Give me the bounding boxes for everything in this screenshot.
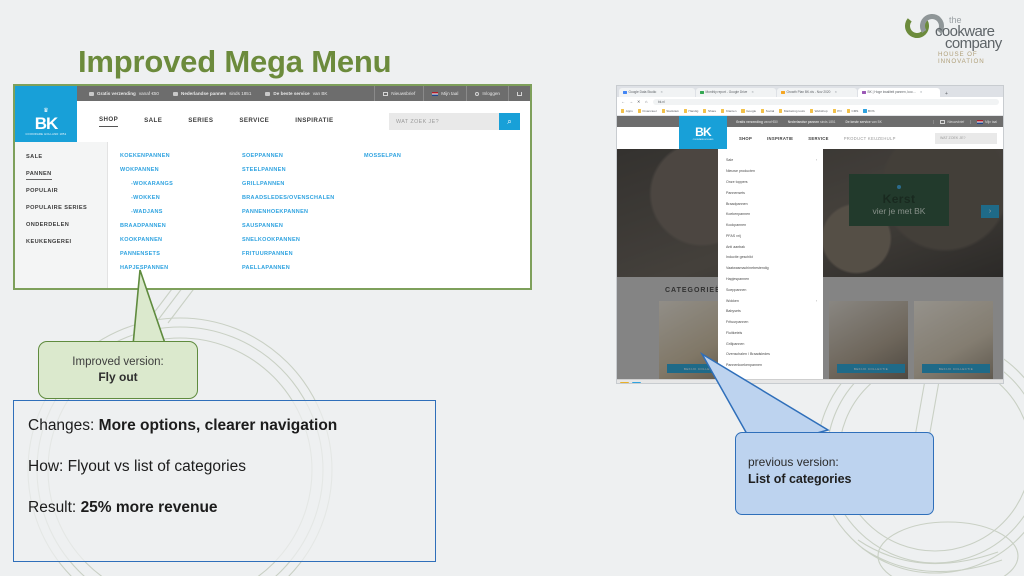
- mega-link[interactable]: -WOKKEN: [120, 191, 242, 205]
- mega-link[interactable]: BRAADPANNEN: [120, 219, 242, 233]
- logo-tagline: HOUSE OF INNOVATION: [938, 51, 1010, 65]
- mega-link[interactable]: BRAADSLEDES/OVENSCHALEN: [242, 191, 364, 205]
- blue-callout-line2: List of categories: [748, 472, 933, 486]
- green-callout-line1: Improved version:: [72, 356, 163, 368]
- mega-link[interactable]: FRITUURPANNEN: [242, 247, 364, 261]
- browser-tab[interactable]: Monthly report - Google Drive ✕: [696, 88, 776, 98]
- mega-column-3: MOSSELPAN: [364, 149, 486, 288]
- shop-dropdown-menu: Sale› Nieuwe producten Onze toppers Pann…: [718, 149, 823, 384]
- bk-monogram: BK: [35, 115, 58, 132]
- main-nav: SHOP SALE SERIES SERVICE INSPIRATIE: [77, 101, 389, 142]
- dropdown-item[interactable]: Soeppannen: [726, 284, 823, 295]
- prev-topbar-promos: Gratis verzending vanaf €50 Nederlandse …: [727, 120, 933, 124]
- prev-topbar-promo: Gratis verzending vanaf €50: [736, 120, 778, 124]
- mega-link[interactable]: SAUSPANNEN: [242, 219, 364, 233]
- search-icon[interactable]: ⌕: [499, 113, 520, 130]
- bookmark-item[interactable]: Social: [761, 109, 774, 113]
- mega-column-2: SOEPPANNEN STEELPANNEN GRILLPANNEN BRAAD…: [242, 149, 364, 288]
- taskbar-icon[interactable]: [632, 382, 641, 384]
- dropdown-item[interactable]: Pannensets: [726, 187, 823, 198]
- language-link[interactable]: Mijn taal: [423, 86, 466, 101]
- dropdown-item[interactable]: Anti aanbak: [726, 241, 823, 252]
- mega-menu-sidebar: SALE PANNEN POPULAIR POPULAIRE SERIES ON…: [15, 142, 108, 288]
- bk-logo-tagline: COOKWARE HOLLAND: [693, 139, 714, 141]
- sidebar-item-sale[interactable]: SALE: [15, 148, 107, 165]
- flag-nl-icon: [977, 120, 983, 124]
- mega-link[interactable]: STEELPANNEN: [242, 163, 364, 177]
- summary-line-how: How: Flyout vs list of categories: [28, 458, 435, 476]
- prev-bk-logo[interactable]: BK COOKWARE HOLLAND: [679, 116, 727, 149]
- dropdown-item[interactable]: Fluitketels: [726, 328, 823, 339]
- sidebar-item-keukengerei[interactable]: KEUKENGEREI: [15, 233, 107, 250]
- folder-icon: [662, 109, 665, 112]
- dropdown-item[interactable]: Inductie geschikt: [726, 252, 823, 263]
- sidebar-item-pannen[interactable]: PANNEN: [15, 165, 107, 182]
- nav-item-sale[interactable]: SALE: [144, 117, 162, 127]
- prev-site-navbar: BK COOKWARE HOLLAND SHOP INSPIRATIE SERV…: [617, 127, 1003, 149]
- folder-icon: [833, 109, 836, 112]
- folder-icon: [863, 109, 866, 112]
- folder-icon: [779, 109, 782, 112]
- sidebar-item-populaire-series[interactable]: POPULAIRE SERIES: [15, 199, 107, 216]
- bookmark-item[interactable]: Google: [741, 109, 756, 113]
- stop-icon[interactable]: ✕: [637, 100, 641, 104]
- bookmark-item[interactable]: Financieel: [638, 109, 657, 113]
- topbar-utility-links: Nieuwsbrief Mijn taal Inloggen: [374, 86, 530, 101]
- folder-icon: [761, 109, 764, 112]
- dropdown-item[interactable]: Babysets: [726, 306, 823, 317]
- bk-logo[interactable]: ♛ BK COOKWARE HOLLAND 1851: [15, 101, 77, 142]
- bookmark-item[interactable]: Klanten: [721, 109, 736, 113]
- prev-nav-item-inspiratie[interactable]: INSPIRATIE: [767, 136, 793, 141]
- favicon-icon: [862, 91, 866, 95]
- cart-button[interactable]: [508, 86, 530, 101]
- favicon-icon: [623, 91, 627, 95]
- dropdown-item[interactable]: Nieuwe producten: [726, 166, 823, 177]
- topbar-logo-spacer: [15, 86, 77, 101]
- cart-icon: [517, 92, 522, 96]
- topbar-promo: Gratis verzending vanaf €50: [89, 91, 159, 96]
- folder-icon: [847, 109, 850, 112]
- bookmark-item[interactable]: PO: [833, 109, 842, 113]
- address-bar[interactable]: bk.nl: [653, 99, 999, 106]
- bookmark-item[interactable]: BOS: [863, 109, 874, 113]
- bk-monogram: BK: [695, 125, 711, 139]
- prev-site-topbar: Gratis verzending vanaf €50 Nederlandse …: [617, 116, 1003, 127]
- envelope-icon: [383, 92, 388, 96]
- prev-topbar-utility: Nieuwsbrief Mijn taal: [933, 120, 1003, 124]
- nav-item-inspiratie[interactable]: INSPIRATIE: [295, 117, 333, 127]
- logo-company: company: [945, 35, 1002, 52]
- mega-link[interactable]: SOEPPANNEN: [242, 149, 364, 163]
- dropdown-item[interactable]: PFAS vrij: [726, 230, 823, 241]
- home-icon[interactable]: ⌂: [645, 100, 649, 104]
- flag-nl-icon: [432, 92, 438, 96]
- mega-menu: SALE PANNEN POPULAIR POPULAIRE SERIES ON…: [15, 142, 530, 288]
- page-title: Improved Mega Menu: [78, 44, 391, 80]
- browser-tab[interactable]: Google Data Studio ✕: [619, 88, 695, 98]
- folder-icon: [638, 109, 641, 112]
- bookmarks-bar: Apps Financieel Statistiek Handig Share …: [617, 107, 1003, 116]
- nav-item-series[interactable]: SERIES: [188, 117, 213, 127]
- close-icon[interactable]: ✕: [660, 90, 663, 94]
- sidebar-item-populair[interactable]: POPULAIR: [15, 182, 107, 199]
- summary-line-result: Result: 25% more revenue: [28, 499, 435, 517]
- prev-nav-item-keuzehulp[interactable]: PRODUCT KEUZEHULP: [844, 136, 896, 141]
- mega-link[interactable]: PANNENSETS: [120, 247, 242, 261]
- search-area: WAT ZOEK JE? ⌕: [389, 101, 530, 142]
- prev-language-link[interactable]: Mijn taal: [970, 120, 1003, 124]
- mega-link[interactable]: -WADJANS: [120, 205, 242, 219]
- mega-link[interactable]: GRILLPANNEN: [242, 177, 364, 191]
- mega-link[interactable]: -WOKARANGS: [120, 177, 242, 191]
- search-input[interactable]: WAT ZOEK JE?: [389, 113, 499, 130]
- favicon-icon: [700, 91, 704, 95]
- bookmark-item[interactable]: Marketing tools: [779, 109, 805, 113]
- mega-link[interactable]: PANNENHOEKPANNEN: [242, 205, 364, 219]
- brand-logo: the cookware company HOUSE OF INNOVATION: [904, 8, 1010, 66]
- browser-tab-strip: Google Data Studio ✕ Monthly report - Go…: [617, 86, 1003, 97]
- site-navbar: ♛ BK COOKWARE HOLLAND 1851 SHOP SALE SER…: [15, 101, 530, 142]
- prev-topbar-promo: De beste service van BK: [846, 120, 882, 124]
- close-icon[interactable]: ✕: [920, 90, 923, 94]
- bookmark-item[interactable]: Apps: [621, 109, 633, 113]
- site-topbar: Gratis verzending vanaf €50 Nederlandse …: [15, 86, 530, 101]
- summary-box: Changes: More options, clearer navigatio…: [13, 400, 436, 562]
- blue-callout-line1: previous version:: [748, 455, 933, 469]
- truck-icon: [265, 92, 270, 96]
- user-icon: [475, 92, 479, 96]
- new-tab-button[interactable]: +: [941, 91, 952, 97]
- nav-item-shop[interactable]: SHOP: [99, 116, 118, 127]
- dropdown-item[interactable]: Hapjespannen: [726, 274, 823, 285]
- close-icon[interactable]: ✕: [751, 90, 754, 94]
- mega-link[interactable]: PAELLAPANNEN: [242, 261, 364, 275]
- bk-logo-tagline: COOKWARE HOLLAND 1851: [25, 133, 66, 136]
- bookmark-item[interactable]: Statistiek: [662, 109, 679, 113]
- forward-icon[interactable]: →: [629, 100, 633, 104]
- mega-link[interactable]: WOKPANNEN: [120, 163, 242, 177]
- folder-icon: [684, 109, 687, 112]
- mega-link[interactable]: MOSSELPAN: [364, 149, 486, 163]
- dropdown-item[interactable]: Frituurpannen: [726, 317, 823, 328]
- topbar-promo: De beste service van BK: [265, 91, 327, 96]
- dropdown-item[interactable]: Sale›: [726, 155, 823, 166]
- topbar-promo: Nederlandse pannen sinds 1851: [173, 91, 251, 96]
- prev-nav-item-shop[interactable]: SHOP: [739, 136, 752, 141]
- folder-icon: [703, 109, 706, 112]
- login-link[interactable]: Inloggen: [466, 86, 508, 101]
- dropdown-item[interactable]: Braadpannen: [726, 198, 823, 209]
- newsletter-link[interactable]: Nieuwsbrief: [374, 86, 423, 101]
- previous-version-screenshot: Google Data Studio ✕ Monthly report - Go…: [616, 85, 1004, 384]
- prev-search-input[interactable]: WAT ZOEK JE?: [935, 133, 997, 144]
- sidebar-item-onderdelen[interactable]: ONDERDELEN: [15, 216, 107, 233]
- bookmark-item[interactable]: Webshop: [810, 109, 828, 113]
- taskbar-icon[interactable]: [620, 382, 629, 384]
- nav-item-service[interactable]: SERVICE: [239, 117, 269, 127]
- dropdown-item[interactable]: Kookpannen: [726, 220, 823, 231]
- folder-icon: [810, 109, 813, 112]
- prev-page-body: Kerst vier je met BK › CATEGORIEËN BEKIJ…: [617, 149, 1003, 384]
- bookmark-item[interactable]: Handig: [684, 109, 699, 113]
- chevron-right-icon: ›: [816, 299, 817, 303]
- dropdown-item[interactable]: Onze toppers: [726, 177, 823, 188]
- mega-menu-columns: KOEKENPANNEN WOKPANNEN -WOKARANGS -WOKKE…: [108, 142, 530, 288]
- envelope-icon: [940, 120, 945, 124]
- folder-icon: [621, 109, 624, 112]
- folder-icon: [721, 109, 724, 112]
- summary-line-changes: Changes: More options, clearer navigatio…: [28, 417, 435, 435]
- improved-version-screenshot: Gratis verzending vanaf €50 Nederlandse …: [13, 84, 532, 290]
- green-callout-line2: Fly out: [98, 370, 137, 384]
- prev-topbar-promo: Nederlandse pannen sinds 1851: [788, 120, 836, 124]
- back-icon[interactable]: ←: [621, 100, 625, 104]
- topbar-promos: Gratis verzending vanaf €50 Nederlandse …: [77, 91, 374, 96]
- dropdown-item[interactable]: Grillpannen: [726, 338, 823, 349]
- crown-icon: ♛: [43, 108, 48, 114]
- prev-main-nav: SHOP INSPIRATIE SERVICE PRODUCT KEUZEHUL…: [739, 136, 896, 141]
- prev-newsletter-link[interactable]: Nieuwsbrief: [933, 120, 970, 124]
- favicon-icon: [781, 91, 785, 95]
- bookmark-item[interactable]: Share: [703, 109, 716, 113]
- browser-tab-active[interactable]: BK | Hoge kwaliteit pannen, koo… ✕: [858, 88, 940, 98]
- green-callout: Improved version: Fly out: [38, 341, 198, 399]
- mega-link[interactable]: KOOKPANNEN: [120, 233, 242, 247]
- browser-tab[interactable]: Growth Plan BK.xls - Nov 2020 ✕: [777, 88, 857, 98]
- mega-link[interactable]: SNELKOOKPANNEN: [242, 233, 364, 247]
- mega-link[interactable]: KOEKENPANNEN: [120, 149, 242, 163]
- truck-icon: [89, 92, 94, 96]
- dropdown-item[interactable]: Vaatwasmachinebestendig: [726, 263, 823, 274]
- folder-icon: [741, 109, 744, 112]
- dropdown-item[interactable]: Koekenpannen: [726, 209, 823, 220]
- truck-icon: [173, 92, 178, 96]
- blue-callout: previous version: List of categories: [735, 432, 934, 515]
- chevron-right-icon: ›: [816, 158, 817, 162]
- close-icon[interactable]: ✕: [834, 90, 837, 94]
- slide: Improved Mega Menu the cookware company …: [0, 0, 1024, 576]
- browser-toolbar: ← → ✕ ⌂ bk.nl: [617, 97, 1003, 107]
- dropdown-item[interactable]: Wokken›: [726, 295, 823, 306]
- prev-nav-item-service[interactable]: SERVICE: [808, 136, 828, 141]
- bookmark-item[interactable]: CMS: [847, 109, 859, 113]
